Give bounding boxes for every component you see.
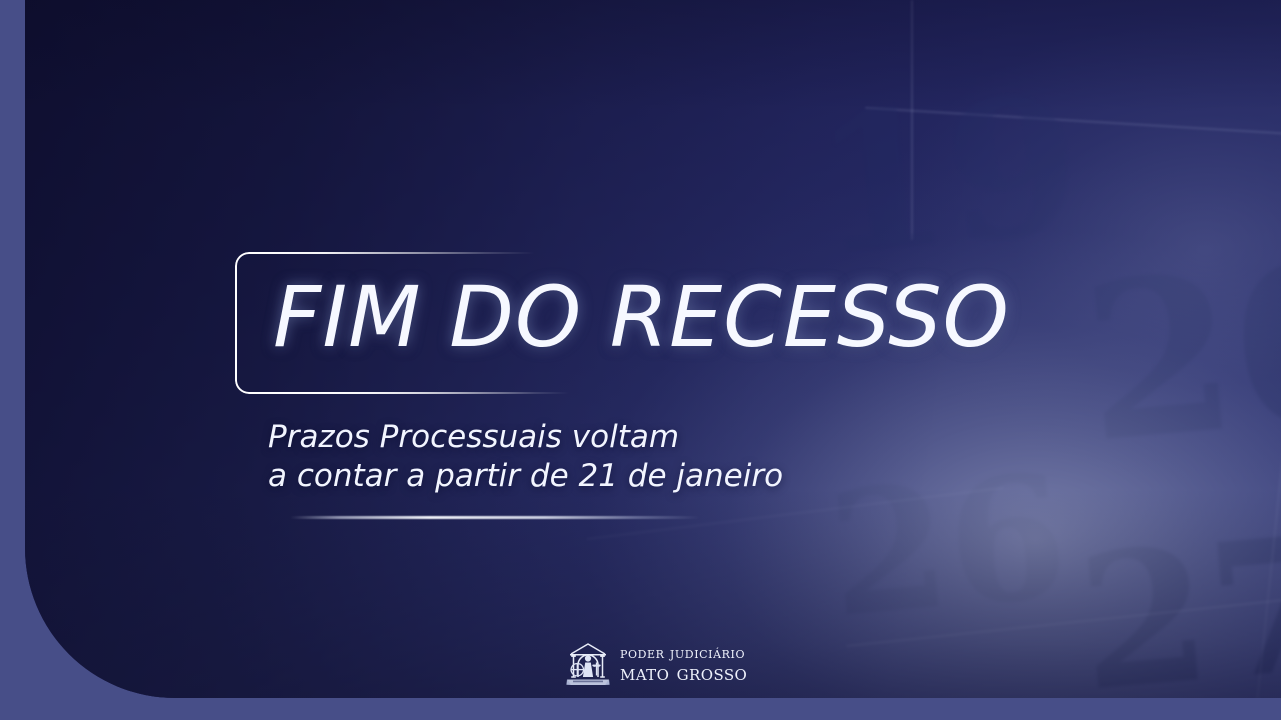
- logo: Poder Judiciário Mato Grosso: [565, 641, 747, 690]
- ribbon: [566, 680, 609, 686]
- divider-rule: [290, 516, 700, 519]
- logo-line-mato-grosso: Mato Grosso: [620, 663, 747, 685]
- logo-line-poder-judiciario: Poder Judiciário: [620, 646, 747, 661]
- title-block: FIM DO RECESSO: [235, 252, 795, 394]
- coat-of-arms-icon: [565, 641, 611, 690]
- page-subtitle: Prazos Processuais voltam a contar a par…: [268, 418, 783, 497]
- logo-wordmark: Poder Judiciário Mato Grosso: [620, 646, 747, 685]
- slide-panel: 19 20 26 27 FIM DO RECESSO Prazos Proces…: [25, 0, 1281, 698]
- title-bracket-underline: [259, 392, 569, 394]
- slide-root: 19 20 26 27 FIM DO RECESSO Prazos Proces…: [0, 0, 1281, 720]
- page-title: FIM DO RECESSO: [273, 268, 1010, 366]
